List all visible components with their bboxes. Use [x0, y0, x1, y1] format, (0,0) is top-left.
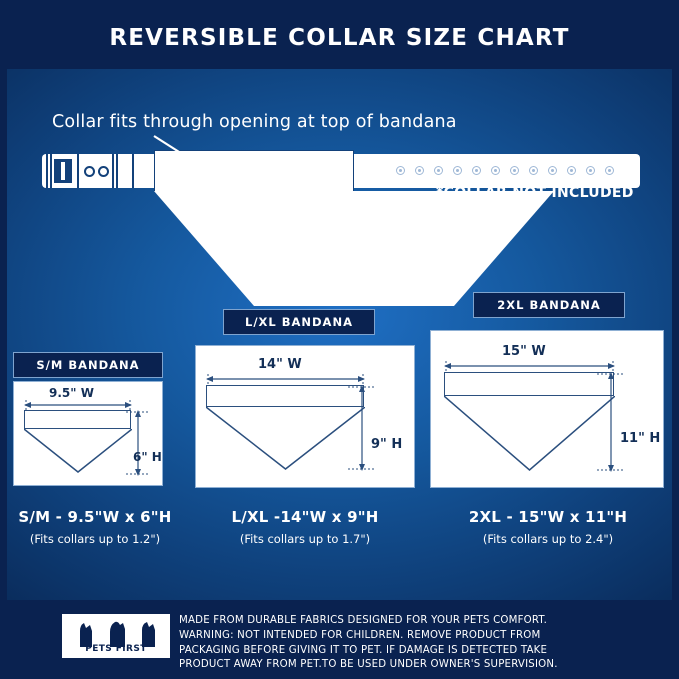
panel-lxl-triangle-outline — [206, 407, 365, 471]
pointer-arrow-icon — [150, 130, 310, 200]
panel-2xl-width-arrow — [444, 361, 615, 371]
footer-bar: PETS FIRST MADE FROM DURABLE FABRICS DES… — [7, 600, 672, 672]
panel-lxl-caption: L/XL -14"W x 9"H (Fits collars up to 1.7… — [195, 508, 415, 546]
panel-2xl-tab: 2XL BANDANA — [473, 292, 625, 318]
collar-not-included-note: *COLLAR NOT INCLUDED — [436, 185, 634, 201]
page-title: REVERSIBLE COLLAR SIZE CHART — [109, 25, 569, 51]
panel-lxl-tab: L/XL BANDANA — [223, 309, 375, 335]
panel-sm-tab: S/M BANDANA — [13, 352, 163, 378]
panel-lxl-caption-sub: (Fits collars up to 1.7") — [195, 532, 415, 546]
panel-sm-height-arrow — [126, 410, 150, 476]
brand-logo: PETS FIRST — [62, 614, 170, 658]
panel-2xl-caption: 2XL - 15"W x 11"H (Fits collars up to 2.… — [428, 508, 668, 546]
panel-lxl-caption-main: L/XL -14"W x 9"H — [195, 508, 415, 526]
panel-2xl-caption-main: 2XL - 15"W x 11"H — [428, 508, 668, 526]
title-bar: REVERSIBLE COLLAR SIZE CHART — [7, 7, 672, 69]
panel-2xl-height-label: 11" H — [620, 431, 660, 446]
legal-line-3: PACKAGING BEFORE GIVING IT TO PET. IF DA… — [179, 644, 660, 659]
panel-sm-height-label: 6" H — [133, 450, 162, 464]
collar-holes — [396, 166, 626, 176]
legal-line-1: MADE FROM DURABLE FABRICS DESIGNED FOR Y… — [179, 614, 660, 629]
panel-sm-width-label: 9.5" W — [49, 386, 94, 400]
legal-line-4: PRODUCT AWAY FROM PET.TO BE USED UNDER O… — [179, 658, 660, 673]
panel-2xl-width-label: 15" W — [502, 344, 546, 359]
size-chart-page: REVERSIBLE COLLAR SIZE CHART Collar fits… — [0, 0, 679, 679]
panel-sm-caption-sub: (Fits collars up to 1.2") — [0, 532, 190, 546]
panel-sm-caption: S/M - 9.5"W x 6"H (Fits collars up to 1.… — [0, 508, 190, 546]
headline-text: Collar fits through opening at top of ba… — [52, 112, 457, 132]
panel-2xl-caption-sub: (Fits collars up to 2.4") — [428, 532, 668, 546]
panel-lxl-height-label: 9" H — [371, 437, 402, 452]
panel-lxl-width-label: 14" W — [258, 357, 302, 372]
panel-lxl-width-arrow — [206, 374, 365, 384]
buckle-icon — [46, 154, 136, 188]
panel-2xl-triangle-outline — [444, 396, 615, 472]
brand-logo-text: PETS FIRST — [64, 644, 168, 654]
collar-illustration: *COLLAR NOT INCLUDED — [0, 140, 679, 290]
panel-sm-width-arrow — [24, 400, 132, 410]
legal-text: MADE FROM DURABLE FABRICS DESIGNED FOR Y… — [179, 614, 660, 673]
legal-line-2: WARNING: NOT INTENDED FOR CHILDREN. REMO… — [179, 629, 660, 644]
panel-lxl-height-arrow — [348, 385, 376, 471]
bandana-triangle — [154, 191, 554, 306]
panel-2xl-bandana-rect — [444, 372, 614, 396]
panel-sm-caption-main: S/M - 9.5"W x 6"H — [0, 508, 190, 526]
panel-sm-bandana-rect — [24, 410, 131, 429]
panel-lxl-bandana-rect — [206, 385, 364, 407]
panel-2xl-height-arrow — [597, 372, 625, 472]
panel-sm-triangle-outline — [24, 429, 132, 474]
